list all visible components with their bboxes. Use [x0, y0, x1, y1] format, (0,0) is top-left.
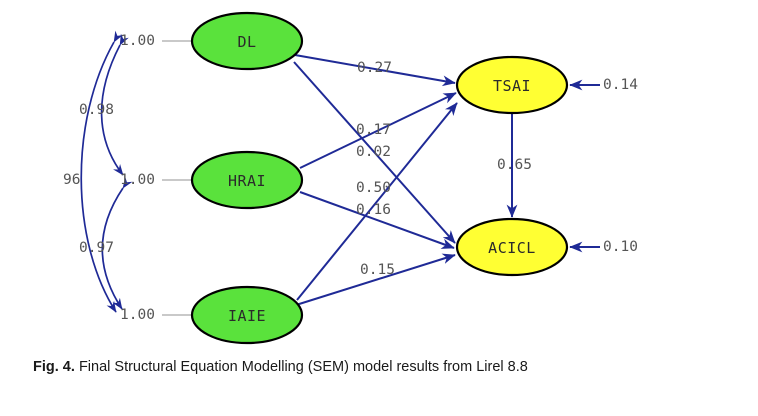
node-label-tsai: TSAI [493, 77, 531, 95]
correlation-arc-dl-iaie [81, 42, 116, 312]
path-label-iaie-tsai: 0.02 [356, 144, 391, 160]
sem-diagram: 0.98 96 0.97 1.00 1.00 1.00 [0, 0, 758, 350]
figure-page: 0.98 96 0.97 1.00 1.00 1.00 [0, 0, 758, 416]
node-hrai[interactable]: HRAI [192, 152, 302, 208]
path-label-dl-acicl: 0.50 [356, 180, 391, 196]
variance-label-dl: 1.00 [120, 33, 155, 49]
correlation-label-dl-hrai: 0.98 [79, 102, 114, 118]
error-label-tsai: 0.14 [603, 77, 638, 93]
figure-caption-text: Final Structural Equation Modelling (SEM… [79, 359, 528, 375]
node-tsai[interactable]: TSAI [457, 57, 567, 113]
error-terms: 0.14 0.10 [570, 77, 638, 255]
path-label-dl-tsai: 0.27 [357, 60, 392, 76]
figure-caption: Fig. 4. Final Structural Equation Modell… [33, 358, 733, 377]
path-label-hrai-tsai: 0.17 [356, 122, 391, 138]
node-label-iaie: IAIE [228, 307, 266, 325]
sem-diagram-canvas: 0.98 96 0.97 1.00 1.00 1.00 [0, 0, 758, 350]
figure-caption-number: Fig. 4. [33, 359, 75, 375]
variance-stubs: 1.00 1.00 1.00 [120, 33, 193, 323]
path-label-tsai-acicl: 0.65 [497, 157, 532, 173]
node-acicl[interactable]: ACICL [457, 219, 567, 275]
error-label-acicl: 0.10 [603, 239, 638, 255]
path-label-hrai-acicl: 0.16 [356, 202, 391, 218]
node-label-acicl: ACICL [488, 239, 536, 257]
correlation-label-hrai-iaie: 0.97 [79, 240, 114, 256]
variance-label-iaie: 1.00 [120, 307, 155, 323]
path-label-iaie-acicl: 0.15 [360, 262, 395, 278]
node-iaie[interactable]: IAIE [192, 287, 302, 343]
variance-label-hrai: 1.00 [120, 172, 155, 188]
node-label-hrai: HRAI [228, 172, 266, 190]
node-dl[interactable]: DL [192, 13, 302, 69]
correlation-arcs: 0.98 96 0.97 [63, 42, 123, 312]
node-label-dl: DL [237, 33, 256, 51]
correlation-label-dl-iaie: 96 [63, 172, 80, 188]
